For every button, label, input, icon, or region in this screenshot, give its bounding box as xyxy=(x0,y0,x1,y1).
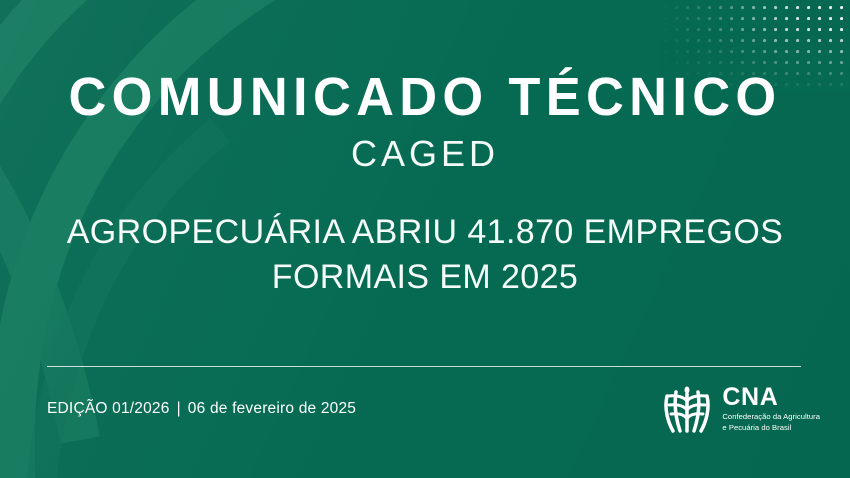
comunicado-tecnico-banner: COMUNICADO TÉCNICO CAGED AGROPECUÁRIA AB… xyxy=(0,0,850,478)
publication-date: 06 de fevereiro de 2025 xyxy=(188,400,356,417)
page-title: COMUNICADO TÉCNICO xyxy=(13,70,838,124)
cna-tagline-line-1: Confederação da Agricultura xyxy=(722,412,820,421)
edition-date-line: EDIÇÃO 01/2026|06 de fevereiro de 2025 xyxy=(47,400,356,418)
headline-line-1: AGROPECUÁRIA ABRIU 41.870 EMPREGOS xyxy=(60,210,790,255)
headline-line-2: FORMAIS EM 2025 xyxy=(60,255,790,300)
headline: AGROPECUÁRIA ABRIU 41.870 EMPREGOS FORMA… xyxy=(60,210,790,300)
banner-content: COMUNICADO TÉCNICO CAGED AGROPECUÁRIA AB… xyxy=(0,0,850,478)
cna-tagline-line-2: e Pecuária do Brasil xyxy=(722,423,791,432)
cna-logo-tagline: Confederação da Agricultura e Pecuária d… xyxy=(722,412,820,432)
edition-label: EDIÇÃO 01/2026 xyxy=(47,400,170,417)
cna-wheat-mark-icon xyxy=(661,385,713,433)
cna-logo: CNA Confederação da Agricultura e Pecuár… xyxy=(661,383,820,435)
cna-logo-text: CNA Confederação da Agricultura e Pecuár… xyxy=(722,385,820,432)
horizontal-divider xyxy=(47,366,801,367)
cna-logo-name: CNA xyxy=(722,385,820,410)
edition-separator: | xyxy=(170,400,188,418)
page-subtitle: CAGED xyxy=(0,136,850,172)
